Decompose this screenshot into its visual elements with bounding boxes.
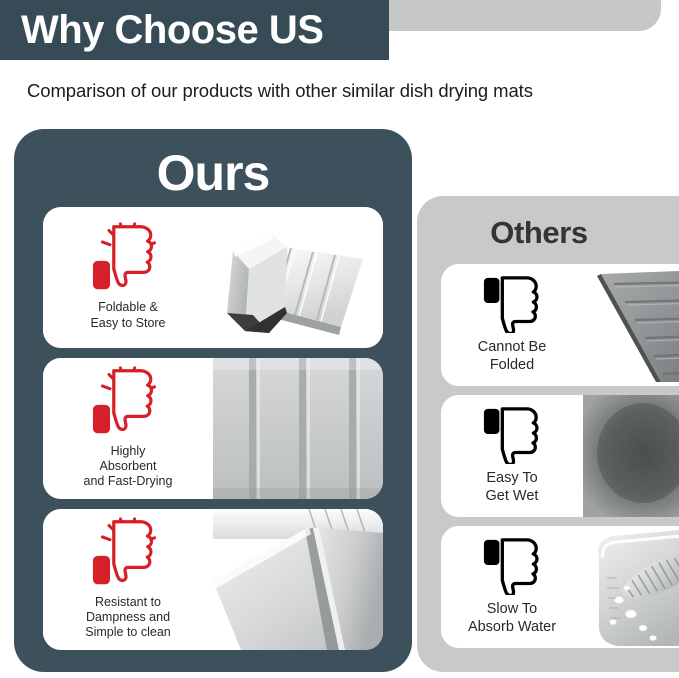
folded-mat-closeup-photo [213,509,383,650]
card-label: Resistant to Dampness and Simple to clea… [85,595,170,641]
water-beading-mat-photo [583,526,679,648]
card-left-content: Easy To Get Wet [441,395,583,517]
wet-fabric-texture-photo [583,395,679,517]
infographic-root: Why Choose US Comparison of our products… [0,0,679,678]
thumbs-up-icon [89,366,167,438]
card-left-content: Resistant to Dampness and Simple to clea… [43,509,213,650]
others-heading: Others [417,217,661,248]
card-left-content: Foldable & Easy to Store [43,207,213,348]
folded-gray-mat-photo [213,207,383,348]
thumbs-down-icon [481,535,543,595]
ribbed-gray-mat-photo [213,358,383,499]
ours-heading: Ours [14,148,412,198]
card-left-content: Highly Absorbent and Fast-Drying [43,358,213,499]
thumbs-up-icon [89,517,167,589]
others-card-easy-to-get-wet: Easy To Get Wet [441,395,679,517]
stiff-ribbed-mat-photo [583,264,679,386]
ours-panel: Ours [14,129,412,672]
card-label: Foldable & Easy to Store [90,300,165,331]
ours-card-highly-absorbent: Highly Absorbent and Fast-Drying [43,358,383,499]
ours-card-foldable-easy-to-store: Foldable & Easy to Store [43,207,383,348]
title-banner: Why Choose US [0,0,389,60]
page-title: Why Choose US [0,10,323,50]
ours-card-resistant-to-dampness: Resistant to Dampness and Simple to clea… [43,509,383,650]
others-panel: Others Cannot Be Folded [417,196,679,672]
others-card-slow-to-absorb-water: Slow To Absorb Water [441,526,679,648]
card-left-content: Cannot Be Folded [441,264,583,386]
thumbs-up-icon [89,222,167,294]
card-label: Slow To Absorb Water [468,601,556,636]
others-card-cannot-be-folded: Cannot Be Folded [441,264,679,386]
top-gray-accent-bar [389,0,661,31]
card-label: Easy To Get Wet [486,470,539,505]
card-label: Cannot Be Folded [478,339,547,374]
card-label: Highly Absorbent and Fast-Drying [84,444,173,490]
card-left-content: Slow To Absorb Water [441,526,583,648]
thumbs-down-icon [481,404,543,464]
subtitle: Comparison of our products with other si… [27,80,639,102]
thumbs-down-icon [481,273,543,333]
